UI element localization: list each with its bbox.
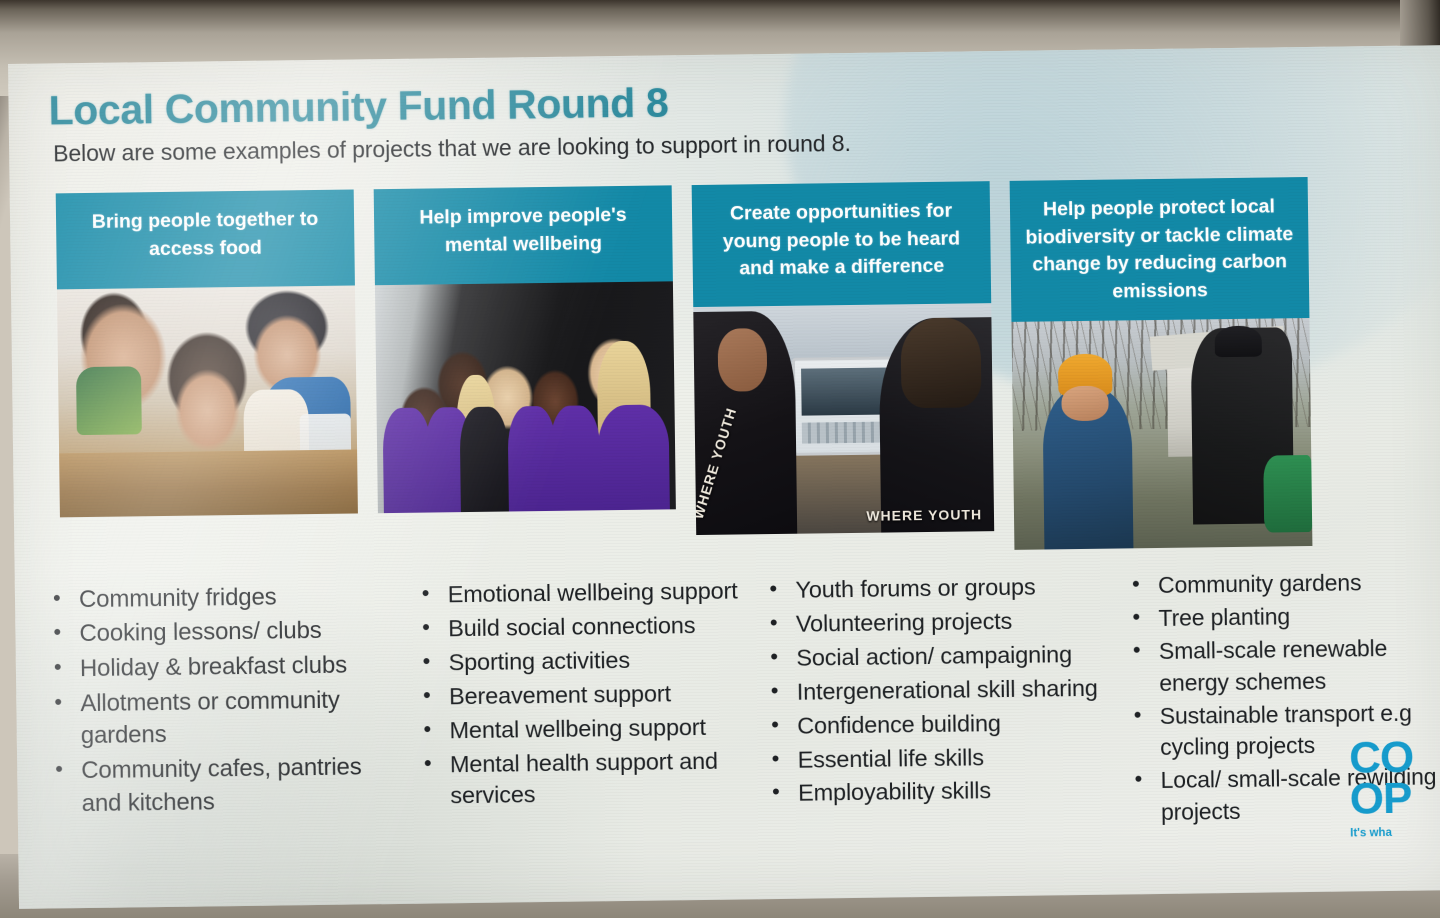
list-item: Allotments or community gardens — [44, 684, 394, 754]
list-item: Community gardens — [1122, 566, 1440, 601]
card-row: Bring people together to access food — [44, 175, 1440, 562]
list-item: Sporting activities — [412, 643, 766, 680]
jacket-text-back: WHERE YOUTH — [866, 506, 982, 524]
presentation-slide-wrapper: Local Community Fund Round 8 Below are s… — [8, 45, 1440, 909]
list-item: Mental health support and services — [414, 745, 769, 814]
logo-tagline: It's wha — [1350, 826, 1440, 839]
screen-photograph: Local Community Fund Round 8 Below are s… — [0, 0, 1440, 918]
photo-youth-media-project: WHERE YOUTH WHERE YOUTH — [693, 303, 994, 535]
card-header-young-people: Create opportunities for young people to… — [692, 181, 992, 307]
presentation-slide: Local Community Fund Round 8 Below are s… — [8, 45, 1440, 909]
list-item: Tree planting — [1122, 599, 1440, 634]
list-item: Build social connections — [412, 609, 766, 646]
list-mental-wellbeing: Emotional wellbeing support Build social… — [412, 575, 769, 813]
bullet-list-mental-wellbeing: Emotional wellbeing support Build social… — [412, 575, 769, 840]
card-header-biodiversity-climate: Help people protect local biodiversity o… — [1010, 177, 1310, 322]
list-item: Community fridges — [43, 580, 392, 617]
bullet-column-row: Community fridges Cooking lessons/ clubs… — [49, 566, 1440, 844]
list-item: Youth forums or groups — [759, 570, 1118, 607]
coop-logo: CO OP It's wha — [1349, 737, 1440, 839]
list-item: Mental wellbeing support — [413, 711, 767, 748]
card-biodiversity-climate: Help people protect local biodiversity o… — [1010, 177, 1313, 550]
list-item: Intergenerational skill sharing — [761, 672, 1120, 709]
card-mental-wellbeing: Help improve people's mental wellbeing — [374, 185, 676, 513]
photo-community-choir — [375, 281, 676, 513]
bullet-list-young-people: Youth forums or groups Volunteering proj… — [759, 570, 1121, 835]
slide-content: Local Community Fund Round 8 Below are s… — [42, 69, 1440, 908]
list-item: Social action/ campaigning — [760, 638, 1119, 675]
card-access-food: Bring people together to access food — [56, 189, 358, 517]
list-item: Emotional wellbeing support — [412, 575, 766, 612]
logo-mark-line-1: CO — [1349, 737, 1440, 779]
bullet-list-access-food: Community fridges Cooking lessons/ clubs… — [43, 580, 395, 845]
photo-cooking-with-children — [57, 285, 358, 517]
list-item: Small-scale renewable energy schemes — [1123, 633, 1440, 700]
list-item: Essential life skills — [761, 740, 1120, 777]
list-item: Holiday & breakfast clubs — [44, 649, 393, 686]
list-item: Employability skills — [762, 774, 1121, 811]
card-header-access-food: Bring people together to access food — [56, 189, 355, 289]
card-young-people: Create opportunities for young people to… — [692, 181, 995, 535]
list-item: Volunteering projects — [760, 604, 1119, 641]
card-header-mental-wellbeing: Help improve people's mental wellbeing — [374, 185, 673, 285]
list-item: Confidence building — [761, 706, 1120, 743]
list-young-people: Youth forums or groups Volunteering proj… — [759, 570, 1121, 810]
list-item: Cooking lessons/ clubs — [43, 614, 392, 651]
photo-outdoor-gardening — [1011, 318, 1312, 550]
logo-mark-line-2: OP — [1349, 778, 1440, 820]
list-access-food: Community fridges Cooking lessons/ clubs… — [43, 580, 395, 821]
list-item: Community cafes, pantries and kitchens — [45, 751, 395, 821]
list-item: Bereavement support — [413, 677, 767, 714]
